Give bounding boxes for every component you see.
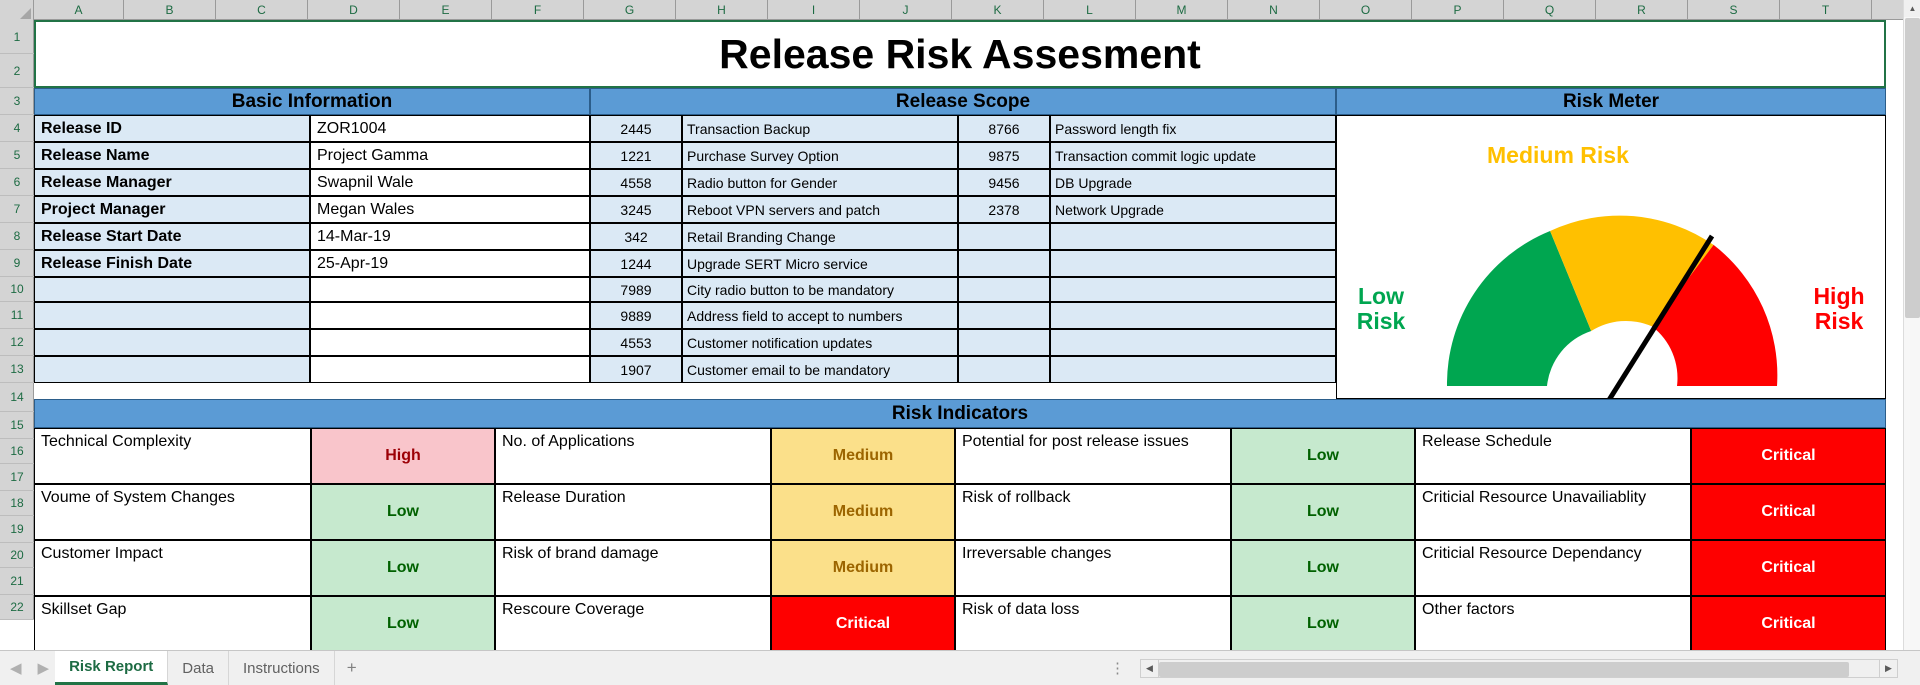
prev-sheet-icon[interactable]: ◀	[10, 661, 22, 676]
gauge-high-label: High Risk	[1799, 284, 1879, 334]
risk-indicator-name[interactable]: Risk of brand damage	[495, 540, 771, 596]
row-header-10[interactable]: 10	[0, 277, 34, 302]
risk-indicator-rating[interactable]: Critical	[1691, 540, 1886, 596]
risk-indicator-name[interactable]: Potential for post release issues	[955, 428, 1231, 484]
column-header-h[interactable]: H	[676, 0, 768, 20]
column-header-m[interactable]: M	[1136, 0, 1228, 20]
basic-info-value[interactable]: 25-Apr-19	[310, 250, 590, 277]
scope-right-id[interactable]: 9875	[958, 142, 1050, 169]
column-header-k[interactable]: K	[952, 0, 1044, 20]
gauge-high-line2: Risk	[1799, 309, 1879, 334]
column-header-p[interactable]: P	[1412, 0, 1504, 20]
risk-indicator-name[interactable]: Risk of rollback	[955, 484, 1231, 540]
risk-indicator-rating[interactable]: Low	[311, 484, 495, 540]
column-header-o[interactable]: O	[1320, 0, 1412, 20]
scope-left-description[interactable]: Radio button for Gender	[682, 169, 958, 196]
sheet-grid: Release Risk Assesment Basic Information…	[34, 20, 1920, 650]
scope-left-description[interactable]: Customer notification updates	[682, 329, 958, 356]
scope-right-id[interactable]: 9456	[958, 169, 1050, 196]
scope-left-id[interactable]: 1221	[590, 142, 682, 169]
sheet-tab-data[interactable]: Data	[168, 651, 229, 685]
scope-left-id[interactable]: 1907	[590, 356, 682, 383]
basic-info-value[interactable]	[310, 356, 590, 383]
vertical-scrollbar[interactable]: ▲	[1903, 0, 1920, 650]
basic-info-label[interactable]: Release Start Date	[34, 223, 310, 250]
risk-indicator-name[interactable]: Risk of data loss	[955, 596, 1231, 650]
row-header-3[interactable]: 3	[0, 88, 34, 115]
scope-left-description[interactable]: Address field to accept to numbers	[682, 302, 958, 329]
scope-right-id[interactable]	[958, 250, 1050, 277]
gauge-low-line2: Risk	[1345, 309, 1417, 334]
scope-left-description[interactable]: City radio button to be mandatory	[682, 277, 958, 302]
excel-worksheet-window: ABCDEFGHIJKLMNOPQRST 1234567891011121314…	[0, 0, 1920, 685]
risk-indicator-rating[interactable]: Low	[311, 596, 495, 650]
section-header-basic-information: Basic Information	[34, 88, 590, 115]
scope-right-description[interactable]: Network Upgrade	[1050, 196, 1336, 223]
gauge-high-line1: High	[1799, 284, 1879, 309]
scope-right-id[interactable]: 2378	[958, 196, 1050, 223]
scope-left-id[interactable]: 3245	[590, 196, 682, 223]
scope-left-description[interactable]: Transaction Backup	[682, 115, 958, 142]
section-header-risk-indicators: Risk Indicators	[34, 399, 1886, 428]
risk-indicator-rating[interactable]: Low	[1231, 596, 1415, 650]
row-header-11[interactable]: 11	[0, 302, 34, 329]
scope-right-description[interactable]	[1050, 277, 1336, 302]
column-header-c[interactable]: C	[216, 0, 308, 20]
column-header-f[interactable]: F	[492, 0, 584, 20]
sheet-nav-arrows: ◀ ▶	[0, 661, 55, 676]
basic-info-value[interactable]	[310, 329, 590, 356]
risk-indicator-name[interactable]: Irreversable changes	[955, 540, 1231, 596]
column-header-q[interactable]: Q	[1504, 0, 1596, 20]
column-header-a[interactable]: A	[34, 0, 124, 20]
row-header-15[interactable]: 15	[0, 412, 34, 439]
risk-indicator-name[interactable]: Rescoure Coverage	[495, 596, 771, 650]
risk-indicator-rating[interactable]: Low	[1231, 540, 1415, 596]
basic-info-value[interactable]: Project Gamma	[310, 142, 590, 169]
row-header-column: 12345678910111213141516171819202122	[0, 20, 34, 620]
row-header-8[interactable]: 8	[0, 223, 34, 250]
row-header-6[interactable]: 6	[0, 169, 34, 196]
basic-info-label[interactable]: Release Manager	[34, 169, 310, 196]
row-header-9[interactable]: 9	[0, 250, 34, 277]
row-header-7[interactable]: 7	[0, 196, 34, 223]
column-header-r[interactable]: R	[1596, 0, 1688, 20]
column-header-d[interactable]: D	[308, 0, 400, 20]
scope-right-id[interactable]	[958, 329, 1050, 356]
risk-indicator-name[interactable]: Criticial Resource Unavailiablity	[1415, 484, 1691, 540]
risk-indicator-rating[interactable]: Critical	[1691, 596, 1886, 650]
section-header-release-scope: Release Scope	[590, 88, 1336, 115]
basic-info-label[interactable]	[34, 329, 310, 356]
sheet-tab-risk-report[interactable]: Risk Report	[55, 651, 168, 685]
scope-left-description[interactable]: Retail Branding Change	[682, 223, 958, 250]
scope-right-id[interactable]: 8766	[958, 115, 1050, 142]
scope-right-description[interactable]	[1050, 250, 1336, 277]
scope-left-description[interactable]: Customer email to be mandatory	[682, 356, 958, 383]
gauge-low-label: Low Risk	[1345, 284, 1417, 334]
scope-right-description[interactable]	[1050, 356, 1336, 383]
basic-info-value[interactable]	[310, 302, 590, 329]
sheet-tab-instructions[interactable]: Instructions	[229, 651, 335, 685]
sheet-options-icon[interactable]: ⋮	[1096, 659, 1140, 677]
horizontal-scroll-thumb[interactable]	[1159, 662, 1849, 677]
risk-indicator-rating[interactable]: Medium	[771, 484, 955, 540]
basic-info-value[interactable]: Swapnil Wale	[310, 169, 590, 196]
scroll-left-button[interactable]: ◀	[1140, 659, 1159, 678]
horizontal-scrollbar[interactable]: ◀ ▶	[1140, 659, 1898, 678]
scope-right-description[interactable]	[1050, 329, 1336, 356]
scope-right-id[interactable]	[958, 302, 1050, 329]
column-header-n[interactable]: N	[1228, 0, 1320, 20]
basic-info-value[interactable]: 14-Mar-19	[310, 223, 590, 250]
risk-indicator-name[interactable]: Customer Impact	[34, 540, 311, 596]
risk-indicator-name[interactable]: Release Schedule	[1415, 428, 1691, 484]
scope-left-id[interactable]: 4558	[590, 169, 682, 196]
scope-right-description[interactable]	[1050, 223, 1336, 250]
row-header-19[interactable]: 19	[0, 516, 34, 543]
basic-info-label[interactable]: Release Finish Date	[34, 250, 310, 277]
row-header-22[interactable]: 22	[0, 595, 34, 620]
row-header-5[interactable]: 5	[0, 142, 34, 169]
scope-right-id[interactable]	[958, 223, 1050, 250]
column-header-t[interactable]: T	[1780, 0, 1872, 20]
scope-left-id[interactable]: 342	[590, 223, 682, 250]
basic-info-label[interactable]	[34, 302, 310, 329]
basic-info-value[interactable]: ZOR1004	[310, 115, 590, 142]
risk-indicator-rating[interactable]: High	[311, 428, 495, 484]
risk-indicator-rating[interactable]: Low	[1231, 428, 1415, 484]
horizontal-scroll-track[interactable]	[1159, 659, 1879, 678]
scope-right-description[interactable]: Password length fix	[1050, 115, 1336, 142]
sheet-tab-bar: ◀ ▶ Risk ReportDataInstructions + ⋮ ◀ ▶	[0, 650, 1920, 685]
row-header-1[interactable]: 1	[0, 20, 34, 54]
column-header-i[interactable]: I	[768, 0, 860, 20]
risk-indicator-name[interactable]: Criticial Resource Dependancy	[1415, 540, 1691, 596]
row-header-12[interactable]: 12	[0, 329, 34, 356]
risk-indicator-name[interactable]: Other factors	[1415, 596, 1691, 650]
row-header-18[interactable]: 18	[0, 491, 34, 516]
column-header-l[interactable]: L	[1044, 0, 1136, 20]
scope-left-id[interactable]: 7989	[590, 277, 682, 302]
scope-right-id[interactable]	[958, 356, 1050, 383]
scope-left-description[interactable]: Purchase Survey Option	[682, 142, 958, 169]
basic-info-label[interactable]	[34, 277, 310, 302]
add-sheet-icon[interactable]: +	[335, 651, 369, 685]
scope-right-description[interactable]: Transaction commit logic update	[1050, 142, 1336, 169]
basic-info-value[interactable]	[310, 277, 590, 302]
scroll-right-button[interactable]: ▶	[1879, 659, 1898, 678]
row-header-2[interactable]: 2	[0, 54, 34, 88]
vertical-scroll-thumb[interactable]	[1905, 18, 1920, 318]
risk-indicator-rating[interactable]: Critical	[771, 596, 955, 650]
section-header-risk-meter: Risk Meter	[1336, 88, 1886, 115]
column-header-b[interactable]: B	[124, 0, 216, 20]
scope-right-id[interactable]	[958, 277, 1050, 302]
basic-info-label[interactable]: Release ID	[34, 115, 310, 142]
risk-indicator-rating[interactable]: Medium	[771, 540, 955, 596]
risk-indicator-name[interactable]: Technical Complexity	[34, 428, 311, 484]
column-header-row: ABCDEFGHIJKLMNOPQRST	[0, 0, 1920, 20]
scope-right-description[interactable]	[1050, 302, 1336, 329]
select-all-corner[interactable]	[0, 0, 34, 20]
basic-info-label[interactable]: Project Manager	[34, 196, 310, 223]
row-header-21[interactable]: 21	[0, 568, 34, 595]
risk-indicator-rating[interactable]: Critical	[1691, 484, 1886, 540]
risk-meter-gauge: Medium Risk Low Risk High Risk	[1336, 115, 1886, 399]
column-header-g[interactable]: G	[584, 0, 676, 20]
basic-info-label[interactable]	[34, 356, 310, 383]
scope-left-id[interactable]: 2445	[590, 115, 682, 142]
gauge-reading-label: Medium Risk	[1487, 142, 1629, 169]
scope-left-id[interactable]: 9889	[590, 302, 682, 329]
row-header-20[interactable]: 20	[0, 543, 34, 568]
risk-indicator-name[interactable]: Voume of System Changes	[34, 484, 311, 540]
column-header-j[interactable]: J	[860, 0, 952, 20]
scope-right-description[interactable]: DB Upgrade	[1050, 169, 1336, 196]
risk-indicator-rating[interactable]: Critical	[1691, 428, 1886, 484]
row-header-17[interactable]: 17	[0, 464, 34, 491]
column-header-s[interactable]: S	[1688, 0, 1780, 20]
risk-indicator-name[interactable]: No. of Applications	[495, 428, 771, 484]
risk-indicator-rating[interactable]: Low	[1231, 484, 1415, 540]
scope-left-description[interactable]: Upgrade SERT Micro service	[682, 250, 958, 277]
risk-indicator-rating[interactable]: Low	[311, 540, 495, 596]
row-header-13[interactable]: 13	[0, 356, 34, 383]
page-title: Release Risk Assesment	[34, 20, 1886, 88]
risk-indicator-rating[interactable]: Medium	[771, 428, 955, 484]
basic-info-label[interactable]: Release Name	[34, 142, 310, 169]
next-sheet-icon[interactable]: ▶	[38, 661, 50, 676]
scope-left-id[interactable]: 1244	[590, 250, 682, 277]
gauge-low-line1: Low	[1345, 284, 1417, 309]
row-header-16[interactable]: 16	[0, 439, 34, 464]
column-header-e[interactable]: E	[400, 0, 492, 20]
scroll-up-button[interactable]: ▲	[1904, 0, 1920, 17]
scope-left-description[interactable]: Reboot VPN servers and patch	[682, 196, 958, 223]
row-header-4[interactable]: 4	[0, 115, 34, 142]
risk-indicator-name[interactable]: Release Duration	[495, 484, 771, 540]
basic-info-value[interactable]: Megan Wales	[310, 196, 590, 223]
risk-indicator-name[interactable]: Skillset Gap	[34, 596, 311, 650]
scope-left-id[interactable]: 4553	[590, 329, 682, 356]
row-header-14[interactable]: 14	[0, 383, 34, 412]
